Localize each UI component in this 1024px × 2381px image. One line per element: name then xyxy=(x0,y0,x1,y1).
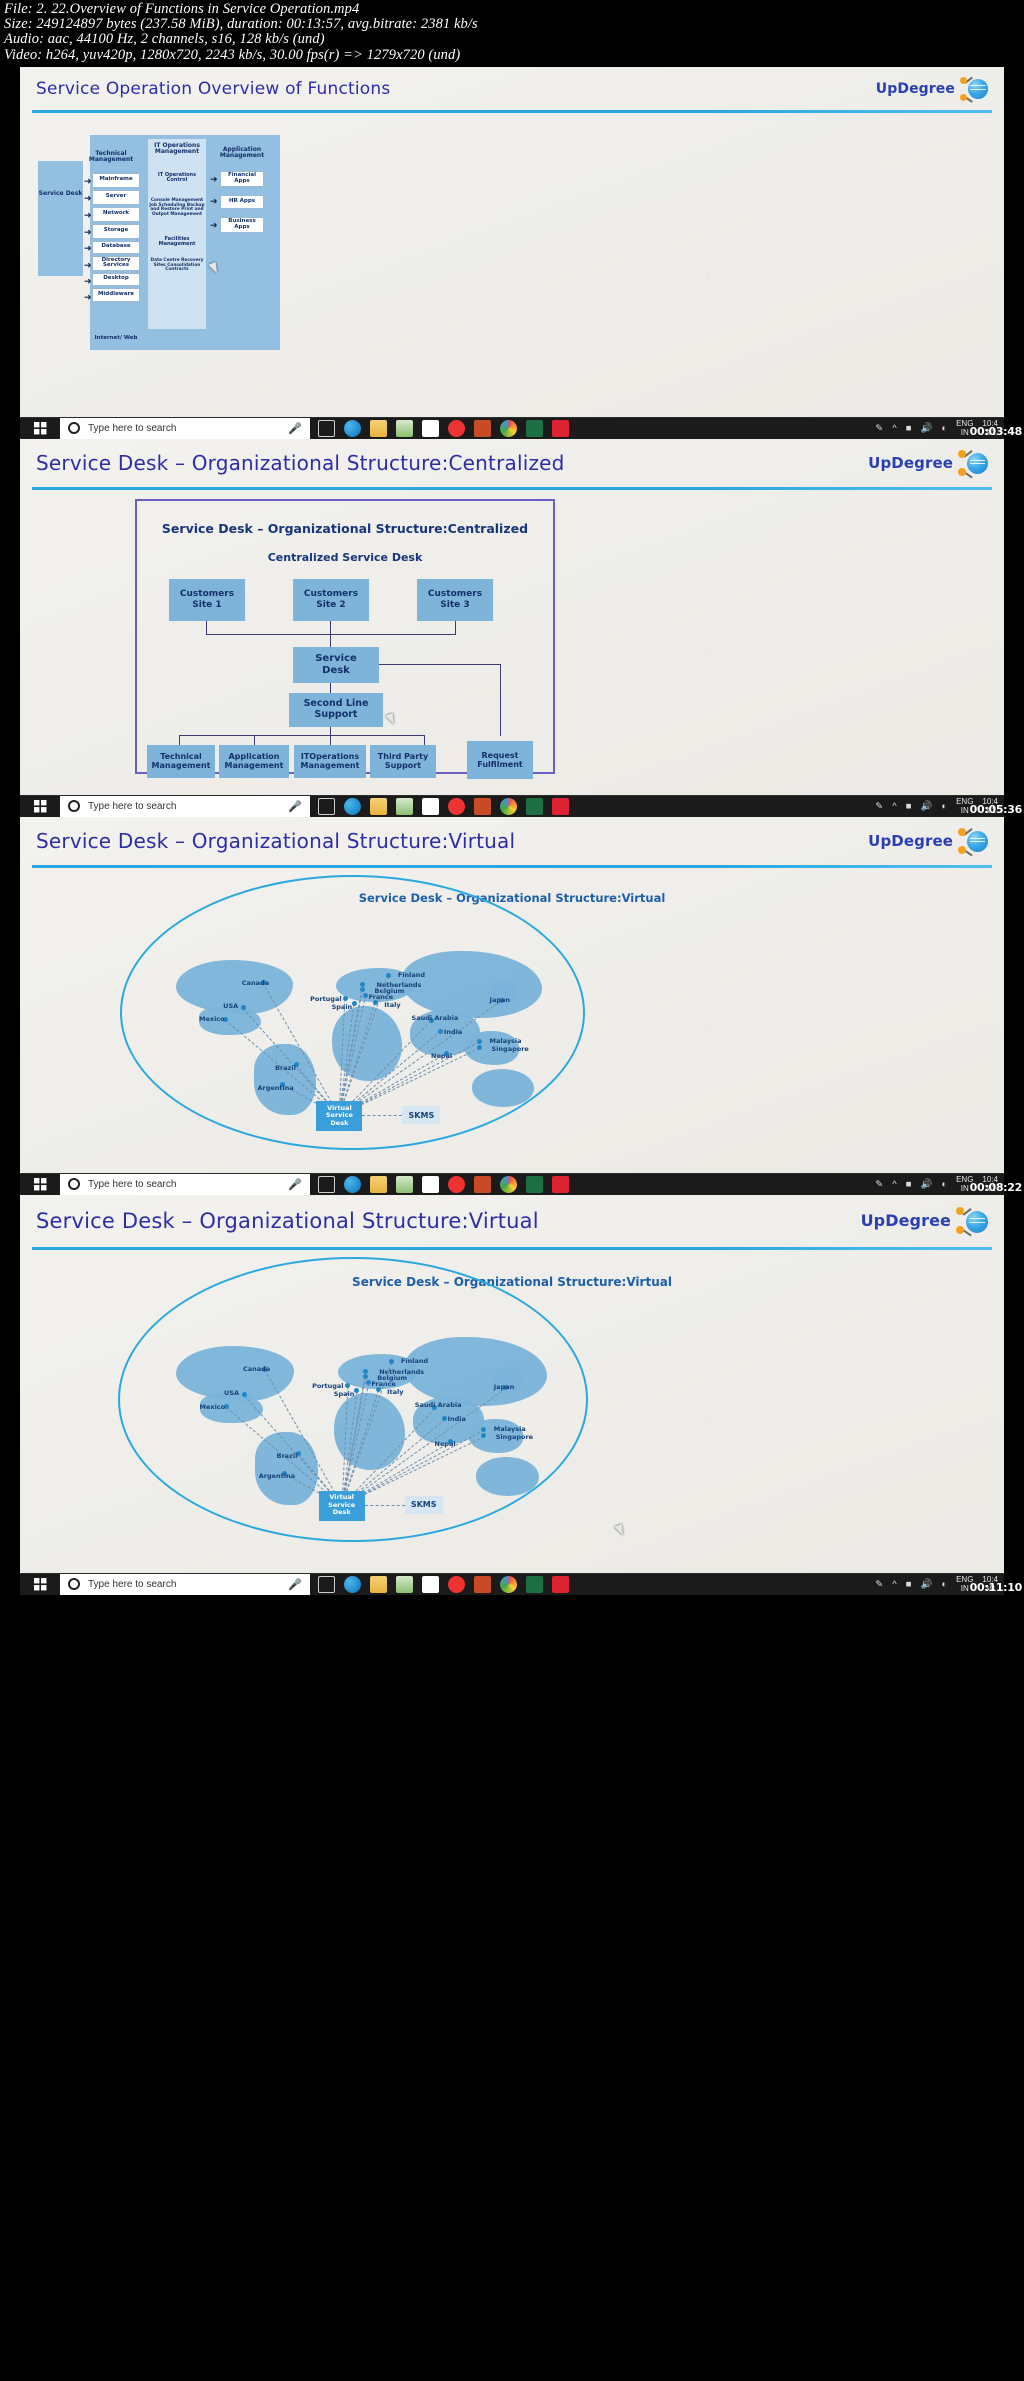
wifi-icon[interactable]: ◐ xyxy=(941,423,947,434)
customers-site-1-box: CustomersSite 1 xyxy=(169,579,245,621)
volume-icon[interactable]: 🔊 xyxy=(920,1579,932,1590)
city-label-italy: Italy xyxy=(387,1389,403,1396)
logo-dot-top xyxy=(958,828,966,836)
battery-icon[interactable]: ■ xyxy=(906,1179,912,1190)
region-code: IN xyxy=(961,1584,969,1593)
pen-icon[interactable]: ✎ xyxy=(875,1579,883,1590)
city-label-spain: Spain xyxy=(332,1004,353,1011)
city-label-india: India xyxy=(448,1416,466,1423)
mouse-cursor xyxy=(385,713,397,726)
city-marker-france xyxy=(366,1380,371,1385)
updegree-logo: UpDegree xyxy=(876,73,990,105)
search-placeholder: Type here to search xyxy=(88,423,176,434)
store-icon[interactable] xyxy=(396,1576,413,1593)
city-marker-spain xyxy=(354,1388,359,1393)
task-view-icon[interactable] xyxy=(318,798,335,815)
updegree-logo: UpDegree xyxy=(868,824,990,858)
powerpoint-icon[interactable] xyxy=(474,1576,491,1593)
city-marker-finland xyxy=(386,973,391,978)
globe-icon xyxy=(958,73,990,105)
task-view-icon[interactable] xyxy=(318,1176,335,1193)
slide-3-body: Service Desk – Organizational Structure:… xyxy=(20,867,1004,1173)
application-management-box: ApplicationManagement xyxy=(219,745,289,778)
sd-line1: Service xyxy=(315,653,357,664)
edge-icon[interactable] xyxy=(344,1176,361,1193)
it-operations-title: IT Operations Management xyxy=(148,143,206,156)
excel-icon[interactable] xyxy=(526,798,543,815)
show-hidden-icons-icon[interactable]: ^ xyxy=(892,423,896,434)
slide-title-1: Service Operation Overview of Functions xyxy=(36,79,390,99)
skms-box: SKMS xyxy=(405,1496,443,1514)
edge-icon[interactable] xyxy=(344,798,361,815)
store-icon[interactable] xyxy=(396,1176,413,1193)
start-button[interactable] xyxy=(20,422,60,435)
sls-line2: Support xyxy=(315,709,358,720)
media-player-icon[interactable] xyxy=(552,798,569,815)
search-placeholder: Type here to search xyxy=(88,801,176,812)
technical-management-box: TechnicalManagement xyxy=(147,745,215,778)
city-marker-netherlands xyxy=(363,1369,368,1374)
city-label-finland: Finland xyxy=(401,1358,428,1365)
it-ops-control-items: Console Management Job Scheduling Backup… xyxy=(148,199,206,218)
screenshot-frame-3: Service Desk – Organizational Structure:… xyxy=(0,817,1024,1195)
volume-icon[interactable]: 🔊 xyxy=(920,1179,932,1190)
br5-line2: Fulfilment xyxy=(477,760,522,769)
start-button[interactable] xyxy=(20,1178,60,1191)
slide-title-4: Service Desk – Organizational Structure:… xyxy=(36,1209,539,1233)
technical-management-items: Mainframe Server Network Storage Databas… xyxy=(92,173,140,304)
file-explorer-icon[interactable] xyxy=(370,1176,387,1193)
diagram-heading-2: Service Desk – Organizational Structure:… xyxy=(137,521,553,536)
battery-icon[interactable]: ■ xyxy=(906,423,912,434)
city-label-usa: USA xyxy=(224,1390,239,1397)
windows-taskbar[interactable]: Type here to search 🎤 ✎ ^ ■ 🔊 ◐ xyxy=(20,795,1004,817)
cortana-icon xyxy=(68,1178,80,1190)
world-map: CanadaUSAMexicoBrazilArgentinaPortugalSp… xyxy=(160,922,550,1132)
city-label-usa: USA xyxy=(223,1003,238,1010)
taskbar-icons[interactable] xyxy=(310,1576,577,1593)
video-timestamp-1: 00:03:48 xyxy=(970,425,1022,438)
logo-dot-top xyxy=(958,450,966,458)
file-info-line-size: Size: 249124897 bytes (237.58 MiB), dura… xyxy=(4,17,1020,32)
mail-icon[interactable] xyxy=(422,1176,439,1193)
city-marker-portugal xyxy=(343,996,348,1001)
city-label-canada: Canada xyxy=(242,980,269,987)
virtual-service-desk-box: VirtualServiceDesk xyxy=(319,1491,365,1521)
city-label-nepal: Nepal xyxy=(435,1441,456,1448)
br4-line1: Third Party xyxy=(378,752,428,761)
map-heading-3: Service Desk – Organizational Structure:… xyxy=(20,891,1004,905)
chrome-icon[interactable] xyxy=(500,1576,517,1593)
br2-line1: Application xyxy=(228,752,279,761)
city-label-argentina: Argentina xyxy=(258,1085,294,1092)
media-player-icon[interactable] xyxy=(552,1576,569,1593)
logo-text: UpDegree xyxy=(861,1211,951,1230)
search-input[interactable]: Type here to search 🎤 xyxy=(60,418,310,439)
city-label-mexico: Mexico xyxy=(200,1404,226,1411)
cs3-line2: Site 3 xyxy=(440,600,469,610)
logo-dot-top xyxy=(960,77,967,84)
pen-icon[interactable]: ✎ xyxy=(875,1179,883,1190)
screenshot-frame-4: Service Desk – Organizational Structure:… xyxy=(0,1195,1024,1595)
city-label-brazil: Brazil xyxy=(277,1453,298,1460)
windows-taskbar[interactable]: Type here to search 🎤 ✎ ^ ■ 🔊 ◐ xyxy=(20,1573,1004,1595)
city-marker-finland xyxy=(389,1359,394,1364)
logo-dot-bottom xyxy=(956,1226,964,1234)
diagram-frame-2: Service Desk – Organizational Structure:… xyxy=(135,499,555,774)
br4-line2: Support xyxy=(385,761,421,770)
file-info-line-audio: Audio: aac, 44100 Hz, 2 channels, s16, 1… xyxy=(4,32,1020,47)
it-operations-management-box: ITOperationsManagement xyxy=(294,745,366,778)
internet-web-label: Internet/ Web xyxy=(90,335,142,341)
facilities-management-title: Facilities Management xyxy=(148,237,206,248)
start-button[interactable] xyxy=(20,800,60,813)
it-ops-panel xyxy=(148,139,206,329)
slide-title-2: Service Desk – Organizational Structure:… xyxy=(36,451,565,475)
opera-icon[interactable] xyxy=(448,1576,465,1593)
city-label-malaysia: Malaysia xyxy=(494,1426,526,1433)
vsd-line3: Desk xyxy=(333,1508,351,1516)
slide-2-body: Service Desk – Organizational Structure:… xyxy=(20,489,1004,795)
globe-icon xyxy=(954,1203,990,1239)
taskbar-icons[interactable] xyxy=(310,420,577,437)
logo-text: UpDegree xyxy=(876,81,955,97)
microphone-icon[interactable]: 🎤 xyxy=(288,1178,302,1191)
skms-box: SKMS xyxy=(402,1106,440,1124)
diagram-card-1: Service Desk Technical Management Mainfr… xyxy=(20,113,350,371)
application-management-title: Application Management xyxy=(216,147,268,160)
second-line-support-box: Second LineSupport xyxy=(289,693,383,727)
cs2-line1: Customers xyxy=(304,589,358,599)
map-heading-4: Service Desk – Organizational Structure:… xyxy=(20,1275,1004,1289)
service-desk-block xyxy=(38,161,83,276)
file-explorer-icon[interactable] xyxy=(370,798,387,815)
powerpoint-icon[interactable] xyxy=(474,798,491,815)
video-timestamp-4: 00:11:10 xyxy=(970,1581,1022,1594)
mail-icon[interactable] xyxy=(422,798,439,815)
search-placeholder: Type here to search xyxy=(88,1579,176,1590)
hr-apps-box: HR Apps xyxy=(220,195,264,209)
show-hidden-icons-icon[interactable]: ^ xyxy=(892,1179,896,1190)
powerpoint-icon[interactable] xyxy=(474,420,491,437)
city-marker-portugal xyxy=(345,1383,350,1388)
third-party-support-box: Third PartySupport xyxy=(370,745,436,778)
cs2-line2: Site 2 xyxy=(316,600,345,610)
region-code: IN xyxy=(961,1184,969,1193)
wifi-icon[interactable]: ◐ xyxy=(941,1579,947,1590)
logo-dot-bottom xyxy=(958,846,966,854)
business-apps-box: Business Apps xyxy=(220,217,264,233)
logo-dot-top xyxy=(956,1207,964,1215)
br3-line2: Management xyxy=(301,761,360,770)
show-hidden-icons-icon[interactable]: ^ xyxy=(892,801,896,812)
task-view-icon[interactable] xyxy=(318,1576,335,1593)
search-input[interactable]: Type here to search 🎤 xyxy=(60,1174,310,1195)
edge-icon[interactable] xyxy=(344,420,361,437)
region-code: IN xyxy=(961,428,969,437)
city-label-italy: Italy xyxy=(384,1002,400,1009)
start-button[interactable] xyxy=(20,1578,60,1591)
chrome-icon[interactable] xyxy=(500,1176,517,1193)
cortana-icon xyxy=(68,422,80,434)
financial-apps-box: Financial Apps xyxy=(220,171,264,187)
request-fulfilment-box: RequestFulfilment xyxy=(467,741,533,779)
br2-line2: Management xyxy=(225,761,284,770)
city-marker-india xyxy=(438,1029,443,1034)
powerpoint-icon[interactable] xyxy=(474,1176,491,1193)
file-info-line-name: File: 2. 22.Overview of Functions in Ser… xyxy=(4,2,1020,17)
search-placeholder: Type here to search xyxy=(88,1179,176,1190)
file-explorer-icon[interactable] xyxy=(370,420,387,437)
logo-dot-bottom xyxy=(958,468,966,476)
wifi-icon[interactable]: ◐ xyxy=(941,1179,947,1190)
task-view-icon[interactable] xyxy=(318,420,335,437)
store-icon[interactable] xyxy=(396,798,413,815)
cs3-line1: Customers xyxy=(428,589,482,599)
city-label-japan: Japan xyxy=(494,1384,514,1391)
windows-taskbar[interactable]: Type here to search 🎤 ✎ ^ ■ 🔊 ◐ xyxy=(20,1173,1004,1195)
technical-management-title: Technical Management xyxy=(86,151,136,164)
microphone-icon[interactable]: 🎤 xyxy=(288,1578,302,1591)
city-label-japan: Japan xyxy=(490,997,510,1004)
landmass-5 xyxy=(402,951,542,1018)
screenshot-frame-1: Service Operation Overview of Functions … xyxy=(0,67,1024,439)
city-label-mexico: Mexico xyxy=(199,1016,225,1023)
excel-icon[interactable] xyxy=(526,1576,543,1593)
globe-icon xyxy=(956,824,990,858)
chrome-icon[interactable] xyxy=(500,420,517,437)
city-label-saudi-arabia: Saudi Arabia xyxy=(415,1402,462,1409)
pen-icon[interactable]: ✎ xyxy=(875,801,883,812)
sd-line2: Desk xyxy=(322,665,350,676)
microphone-icon[interactable]: 🎤 xyxy=(288,422,302,435)
video-timestamp-2: 00:05:36 xyxy=(970,803,1022,816)
city-marker-italy xyxy=(373,1000,378,1005)
landmass-8 xyxy=(472,1069,534,1107)
logo-dot-bottom xyxy=(960,94,967,101)
store-icon[interactable] xyxy=(396,420,413,437)
city-marker-india xyxy=(442,1416,447,1421)
slide-1-body: Service Desk Technical Management Mainfr… xyxy=(20,113,1004,417)
opera-icon[interactable] xyxy=(448,1176,465,1193)
mouse-cursor xyxy=(614,1524,626,1537)
city-marker-italy xyxy=(376,1387,381,1392)
city-label-brazil: Brazil xyxy=(275,1065,296,1072)
volume-icon[interactable]: 🔊 xyxy=(920,423,932,434)
logo-text: UpDegree xyxy=(868,454,953,472)
customers-site-3-box: CustomersSite 3 xyxy=(417,579,493,621)
globe-icon xyxy=(956,446,990,480)
microphone-icon[interactable]: 🎤 xyxy=(288,800,302,813)
edge-icon[interactable] xyxy=(344,1576,361,1593)
city-label-portugal: Portugal xyxy=(312,1383,343,1390)
media-player-icon[interactable] xyxy=(552,1176,569,1193)
file-explorer-icon[interactable] xyxy=(370,1576,387,1593)
br1-line1: Technical xyxy=(160,752,202,761)
diagram-subheading-2: Centralized Service Desk xyxy=(137,551,553,564)
br5-line1: Request xyxy=(481,751,518,760)
service-desk-box: ServiceDesk xyxy=(293,647,379,683)
taskbar-icons[interactable] xyxy=(310,1176,577,1193)
opera-icon[interactable] xyxy=(448,798,465,815)
file-info-line-video: Video: h264, yuv420p, 1280x720, 2243 kb/… xyxy=(4,48,1020,63)
volume-icon[interactable]: 🔊 xyxy=(920,801,932,812)
updegree-logo: UpDegree xyxy=(861,1203,990,1239)
opera-icon[interactable] xyxy=(448,420,465,437)
media-player-icon[interactable] xyxy=(552,420,569,437)
search-input[interactable]: Type here to search 🎤 xyxy=(60,1574,310,1595)
city-label-finland: Finland xyxy=(398,972,425,979)
battery-icon[interactable]: ■ xyxy=(906,801,912,812)
customers-site-2-box: CustomersSite 2 xyxy=(293,579,369,621)
windows-taskbar[interactable]: Type here to search 🎤 ✎ ^ ■ 🔊 ◐ xyxy=(20,417,1004,439)
battery-icon[interactable]: ■ xyxy=(906,1579,912,1590)
city-label-singapore: Singapore xyxy=(492,1046,529,1053)
city-label-singapore: Singapore xyxy=(496,1434,533,1441)
chrome-icon[interactable] xyxy=(500,798,517,815)
mail-icon[interactable] xyxy=(422,420,439,437)
cs1-line1: Customers xyxy=(180,589,234,599)
video-timestamp-3: 00:08:22 xyxy=(970,1181,1022,1194)
skms-connection-line xyxy=(365,1505,405,1506)
mail-icon[interactable] xyxy=(422,1576,439,1593)
city-marker-spain xyxy=(352,1001,357,1006)
city-label-saudi-arabia: Saudi Arabia xyxy=(412,1015,459,1022)
city-label-india: India xyxy=(444,1029,462,1036)
slide-title-3: Service Desk – Organizational Structure:… xyxy=(36,829,515,853)
it-ops-control-title: IT Operations Control xyxy=(148,173,206,184)
world-map: CanadaUSAMexicoBrazilArgentinaPortugalSp… xyxy=(160,1307,555,1522)
br3-line1: ITOperations xyxy=(301,752,359,761)
virtual-service-desk-box: VirtualServiceDesk xyxy=(316,1101,362,1131)
facilities-management-items: Data Centre Recovery Sites Consolidation… xyxy=(148,259,206,273)
city-label-nepal: Nepal xyxy=(431,1053,452,1060)
excel-icon[interactable] xyxy=(526,1176,543,1193)
excel-icon[interactable] xyxy=(526,420,543,437)
city-label-canada: Canada xyxy=(243,1366,270,1373)
pen-icon[interactable]: ✎ xyxy=(875,423,883,434)
screenshot-frame-2: Service Desk – Organizational Structure:… xyxy=(0,439,1024,817)
region-code: IN xyxy=(961,806,969,815)
wifi-icon[interactable]: ◐ xyxy=(941,801,947,812)
city-label-spain: Spain xyxy=(334,1391,355,1398)
file-info-header: File: 2. 22.Overview of Functions in Ser… xyxy=(0,0,1024,67)
landmass-8 xyxy=(476,1457,539,1496)
cs1-line2: Site 1 xyxy=(192,600,221,610)
taskbar-icons[interactable] xyxy=(310,798,577,815)
landmass-5 xyxy=(405,1337,547,1406)
sls-line1: Second Line xyxy=(304,698,369,709)
skms-connection-line xyxy=(362,1115,402,1116)
cortana-icon xyxy=(68,1578,80,1590)
show-hidden-icons-icon[interactable]: ^ xyxy=(892,1579,896,1590)
logo-text: UpDegree xyxy=(868,832,953,850)
br1-line2: Management xyxy=(152,761,211,770)
search-input[interactable]: Type here to search 🎤 xyxy=(60,796,310,817)
city-label-argentina: Argentina xyxy=(259,1473,295,1480)
slide-4-body: Service Desk – Organizational Structure:… xyxy=(20,1249,1004,1573)
updegree-logo: UpDegree xyxy=(868,446,990,480)
vsd-line3: Desk xyxy=(330,1119,348,1127)
cortana-icon xyxy=(68,800,80,812)
service-desk-label: Service Desk xyxy=(38,191,83,198)
